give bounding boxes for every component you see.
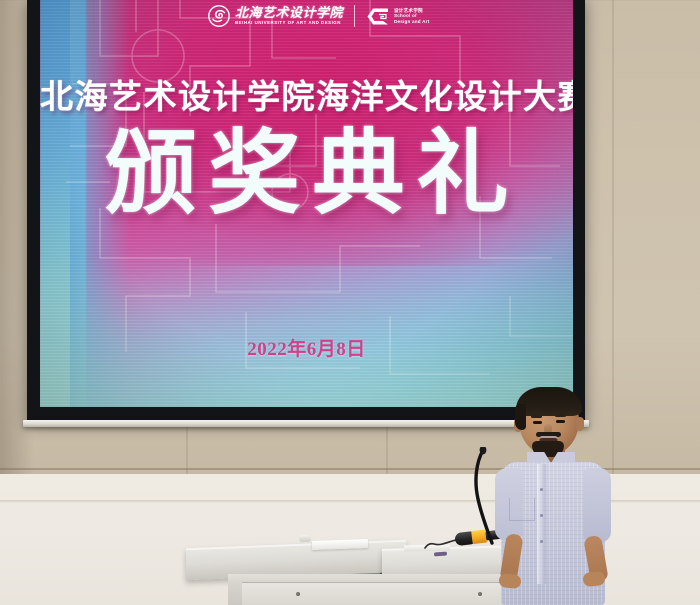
beihai-logo-chinese-name: 北海艺术设计学院 (235, 6, 343, 19)
presenter-ear (576, 417, 584, 431)
presenter-hair-side (515, 404, 526, 430)
beihai-university-logo: 北海艺术设计学院 BEIHAI UNIVERSITY OF ART AND DE… (208, 5, 343, 27)
projection-screen-frame: 北海艺术设计学院 BEIHAI UNIVERSITY OF ART AND DE… (27, 0, 585, 420)
beihai-logo-english-name: BEIHAI UNIVERSITY OF ART AND DESIGN (235, 21, 343, 25)
projection-screen-surface: 北海艺术设计学院 BEIHAI UNIVERSITY OF ART AND DE… (40, 0, 573, 407)
podium-screw (478, 592, 482, 596)
podium-screw (296, 592, 300, 596)
presenter (487, 388, 622, 605)
logo-divider (354, 5, 355, 27)
slide-logo-bar: 北海艺术设计学院 BEIHAI UNIVERSITY OF ART AND DE… (208, 5, 429, 27)
swirl-wave-logo-icon (208, 5, 230, 27)
presenter-hand (498, 573, 521, 589)
presenter-shirt-button (540, 514, 543, 517)
presenter-shirt-pocket (509, 498, 535, 521)
presenter-eye (533, 421, 542, 424)
podium-small-object (299, 535, 311, 543)
presenter-eyebrow (531, 415, 542, 418)
presenter-shirt-placket (537, 464, 546, 584)
slide-headline: 颁奖典礼 (40, 126, 573, 223)
school-of-design-monogram-icon (366, 6, 390, 27)
presentation-scene: 北海艺术设计学院 BEIHAI UNIVERSITY OF ART AND DE… (0, 0, 700, 605)
presenter-shirt-button (540, 488, 543, 491)
presenter-eyebrow (555, 414, 566, 417)
presenter-eye (556, 420, 565, 423)
slide-date: 2022年6月8日 (40, 334, 573, 361)
presenter-sleeve (583, 468, 611, 542)
presenter-shirt-button (540, 540, 543, 543)
sda-logo-english-line-2: Design and Art (394, 19, 429, 24)
slide-title: 北海艺术设计学院海洋文化设计大赛 (40, 70, 573, 118)
school-of-design-logo: 设计艺术学院 School of Design and Art (366, 6, 429, 27)
podium-edge-highlight (186, 540, 406, 550)
